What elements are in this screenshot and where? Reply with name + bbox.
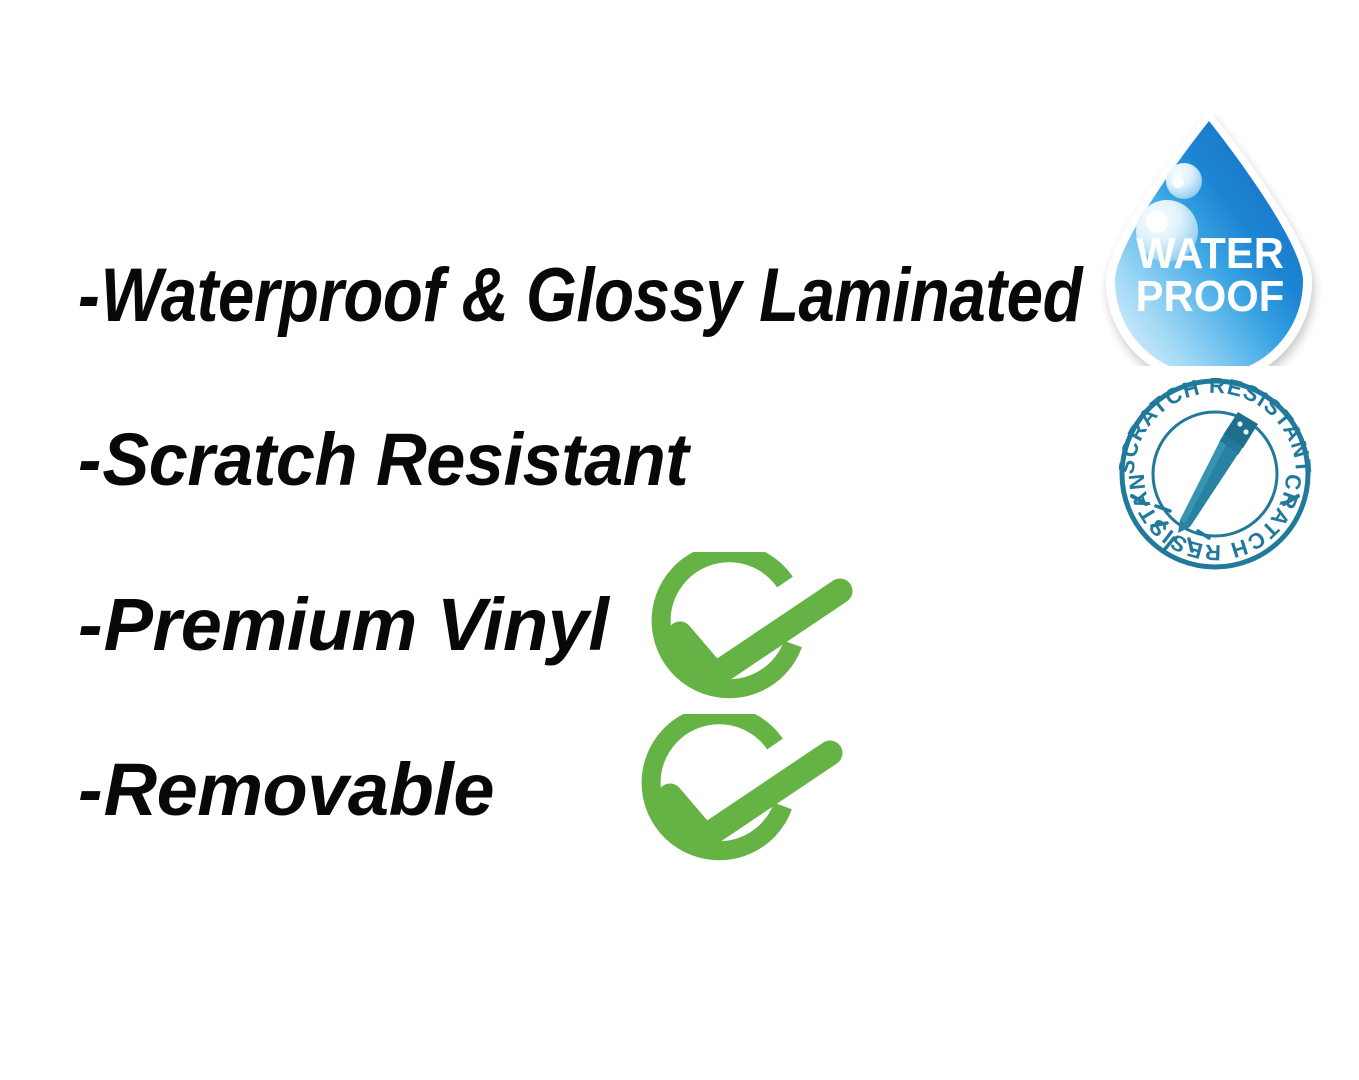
feature-item-premium-vinyl: -Premium Vinyl [78, 588, 608, 662]
scratch-resistant-stamp-badge: SCRATCH RESISTANT SCRATCH RESISTANT [1112, 378, 1318, 570]
feature-label: Waterproof & Glossy Laminated [101, 253, 1082, 338]
feature-bullet-dash: - [78, 418, 102, 501]
feature-bullet-dash: - [78, 253, 101, 338]
check-tick [680, 591, 840, 675]
water-bubble-large-icon [1136, 200, 1198, 262]
feature-item-scratch-resistant: -Scratch Resistant [78, 423, 688, 497]
check-tick [670, 753, 830, 837]
water-bubble-small-icon [1166, 163, 1202, 199]
feature-bullet-dash: - [78, 583, 104, 666]
feature-label: Removable [104, 748, 494, 831]
feature-item-waterproof: -Waterproof & Glossy Laminated [78, 258, 1082, 334]
feature-highlight-graphic: -Waterproof & Glossy Laminated -Scratch … [0, 0, 1359, 1080]
feature-label: Scratch Resistant [102, 418, 688, 501]
feature-bullet-dash: - [78, 748, 104, 831]
feature-item-removable: -Removable [78, 753, 494, 827]
waterproof-drop-badge: WATER PROOF [1098, 104, 1322, 366]
check-mark-premium-vinyl [632, 552, 860, 716]
check-mark-removable [622, 714, 850, 878]
feature-label: Premium Vinyl [104, 583, 609, 666]
feature-list: -Waterproof & Glossy Laminated -Scratch … [0, 0, 1100, 1080]
